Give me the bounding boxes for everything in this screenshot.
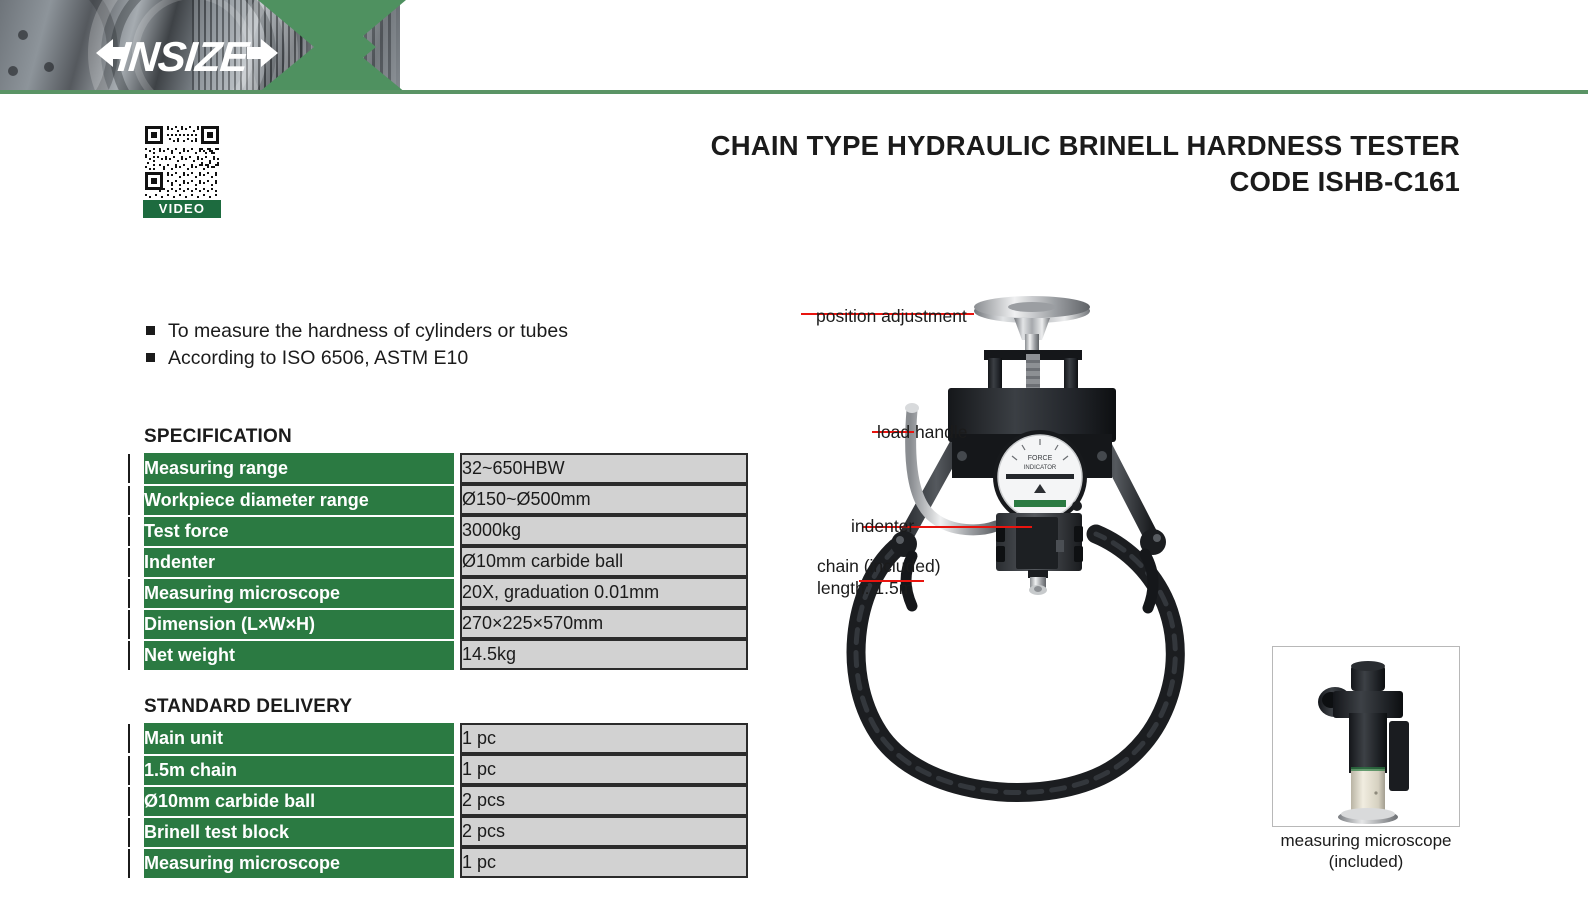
photo-bolt-decoration (18, 30, 28, 40)
spec-value: 270×225×570mm (460, 608, 748, 639)
spec-value: 14.5kg (460, 639, 748, 670)
delivery-key-label: Main unit (128, 724, 454, 753)
delivery-value: 1 pc (460, 754, 748, 785)
spec-value: Ø150~Ø500mm (460, 484, 748, 515)
delivery-value: 2 pcs (460, 785, 748, 816)
callout-chain-line-1: chain (included) (817, 555, 941, 577)
photo-bolt-decoration (8, 66, 18, 76)
svg-text:INSIZE: INSIZE (116, 33, 253, 79)
delivery-key: Ø10mm carbide ball (144, 785, 454, 816)
spec-key-label: Indenter (128, 548, 454, 577)
list-item: According to ISO 6506, ASTM E10 (146, 347, 568, 370)
qr-code-icon[interactable] (143, 124, 221, 200)
spec-key-label: Test force (128, 517, 454, 546)
delivery-value: 1 pc (460, 723, 748, 754)
list-item: To measure the hardness of cylinders or … (146, 320, 568, 343)
specification-section: SPECIFICATION Measuring range 32~650HBW … (144, 426, 748, 670)
table-row: Workpiece diameter range Ø150~Ø500mm (144, 484, 748, 515)
delivery-value: 2 pcs (460, 816, 748, 847)
square-bullet-icon (146, 326, 155, 335)
spec-key: Indenter (144, 546, 454, 577)
spec-key: Net weight (144, 639, 454, 670)
insize-logo: INSIZE (96, 27, 278, 79)
delivery-key: 1.5m chain (144, 754, 454, 785)
callout-chain-line-2: length: 1.5m (817, 577, 941, 599)
delivery-key-label: Brinell test block (128, 818, 454, 847)
callout-leader-lines (800, 288, 1280, 808)
spec-key-label: Dimension (L×W×H) (128, 610, 454, 639)
page-title-line-1: CHAIN TYPE HYDRAULIC BRINELL HARDNESS TE… (500, 128, 1460, 164)
green-chevron-shape (258, 0, 406, 93)
video-qr-block[interactable]: VIDEO (143, 124, 221, 218)
spec-key: Workpiece diameter range (144, 484, 454, 515)
measuring-microscope-illustration (1273, 647, 1459, 826)
feature-text: According to ISO 6506, ASTM E10 (168, 347, 468, 370)
table-row: Measuring microscope 1 pc (144, 847, 748, 878)
delivery-key-label: Measuring microscope (128, 849, 454, 878)
header-green-rule (0, 90, 1588, 94)
microscope-inset-frame (1272, 646, 1460, 827)
spec-key: Measuring microscope (144, 577, 454, 608)
inset-caption: measuring microscope (included) (1240, 830, 1492, 872)
callout-chain: chain (included) length: 1.5m (817, 555, 941, 599)
table-row: Ø10mm carbide ball 2 pcs (144, 785, 748, 816)
specification-title: SPECIFICATION (144, 426, 748, 448)
delivery-key: Brinell test block (144, 816, 454, 847)
table-row: Measuring microscope 20X, graduation 0.0… (144, 577, 748, 608)
feature-text: To measure the hardness of cylinders or … (168, 320, 568, 343)
table-row: Measuring range 32~650HBW (144, 453, 748, 484)
spec-value: 20X, graduation 0.01mm (460, 577, 748, 608)
standard-delivery-title: STANDARD DELIVERY (144, 696, 748, 718)
page-title-line-2: CODE ISHB-C161 (500, 164, 1460, 200)
callout-indenter: indenter (851, 515, 914, 537)
qr-video-label[interactable]: VIDEO (143, 200, 221, 218)
standard-delivery-table: Main unit 1 pc 1.5m chain 1 pc Ø10mm car… (144, 723, 748, 878)
spec-key: Test force (144, 515, 454, 546)
product-photo-diagram: FORCE INDICATOR (800, 288, 1280, 808)
table-row: 1.5m chain 1 pc (144, 754, 748, 785)
spec-key-label: Measuring range (128, 454, 454, 483)
delivery-key-label: Ø10mm carbide ball (128, 787, 454, 816)
photo-bolt-decoration (44, 62, 54, 72)
inset-caption-line-2: (included) (1240, 851, 1492, 872)
specification-table: Measuring range 32~650HBW Workpiece diam… (144, 453, 748, 670)
delivery-key-label: 1.5m chain (128, 756, 454, 785)
table-row: Test force 3000kg (144, 515, 748, 546)
product-datasheet-page: INSIZE (0, 0, 1588, 912)
table-row: Indenter Ø10mm carbide ball (144, 546, 748, 577)
table-row: Net weight 14.5kg (144, 639, 748, 670)
delivery-value: 1 pc (460, 847, 748, 878)
delivery-key: Measuring microscope (144, 847, 454, 878)
page-header: INSIZE (0, 0, 1588, 96)
callout-load-handle: load handle (877, 421, 968, 443)
spec-key: Measuring range (144, 453, 454, 484)
spec-key: Dimension (L×W×H) (144, 608, 454, 639)
table-row: Dimension (L×W×H) 270×225×570mm (144, 608, 748, 639)
feature-list: To measure the hardness of cylinders or … (146, 320, 568, 374)
square-bullet-icon (146, 353, 155, 362)
spec-value: Ø10mm carbide ball (460, 546, 748, 577)
delivery-key: Main unit (144, 723, 454, 754)
table-row: Main unit 1 pc (144, 723, 748, 754)
table-row: Brinell test block 2 pcs (144, 816, 748, 847)
spec-key-label: Measuring microscope (128, 579, 454, 608)
callout-position-adjustment: position adjustment (816, 305, 967, 327)
standard-delivery-section: STANDARD DELIVERY Main unit 1 pc 1.5m ch… (144, 696, 748, 878)
inset-caption-line-1: measuring microscope (1240, 830, 1492, 851)
page-title: CHAIN TYPE HYDRAULIC BRINELL HARDNESS TE… (500, 128, 1460, 200)
spec-value: 32~650HBW (460, 453, 748, 484)
spec-key-label: Net weight (128, 641, 454, 670)
spec-key-label: Workpiece diameter range (128, 486, 454, 515)
spec-value: 3000kg (460, 515, 748, 546)
